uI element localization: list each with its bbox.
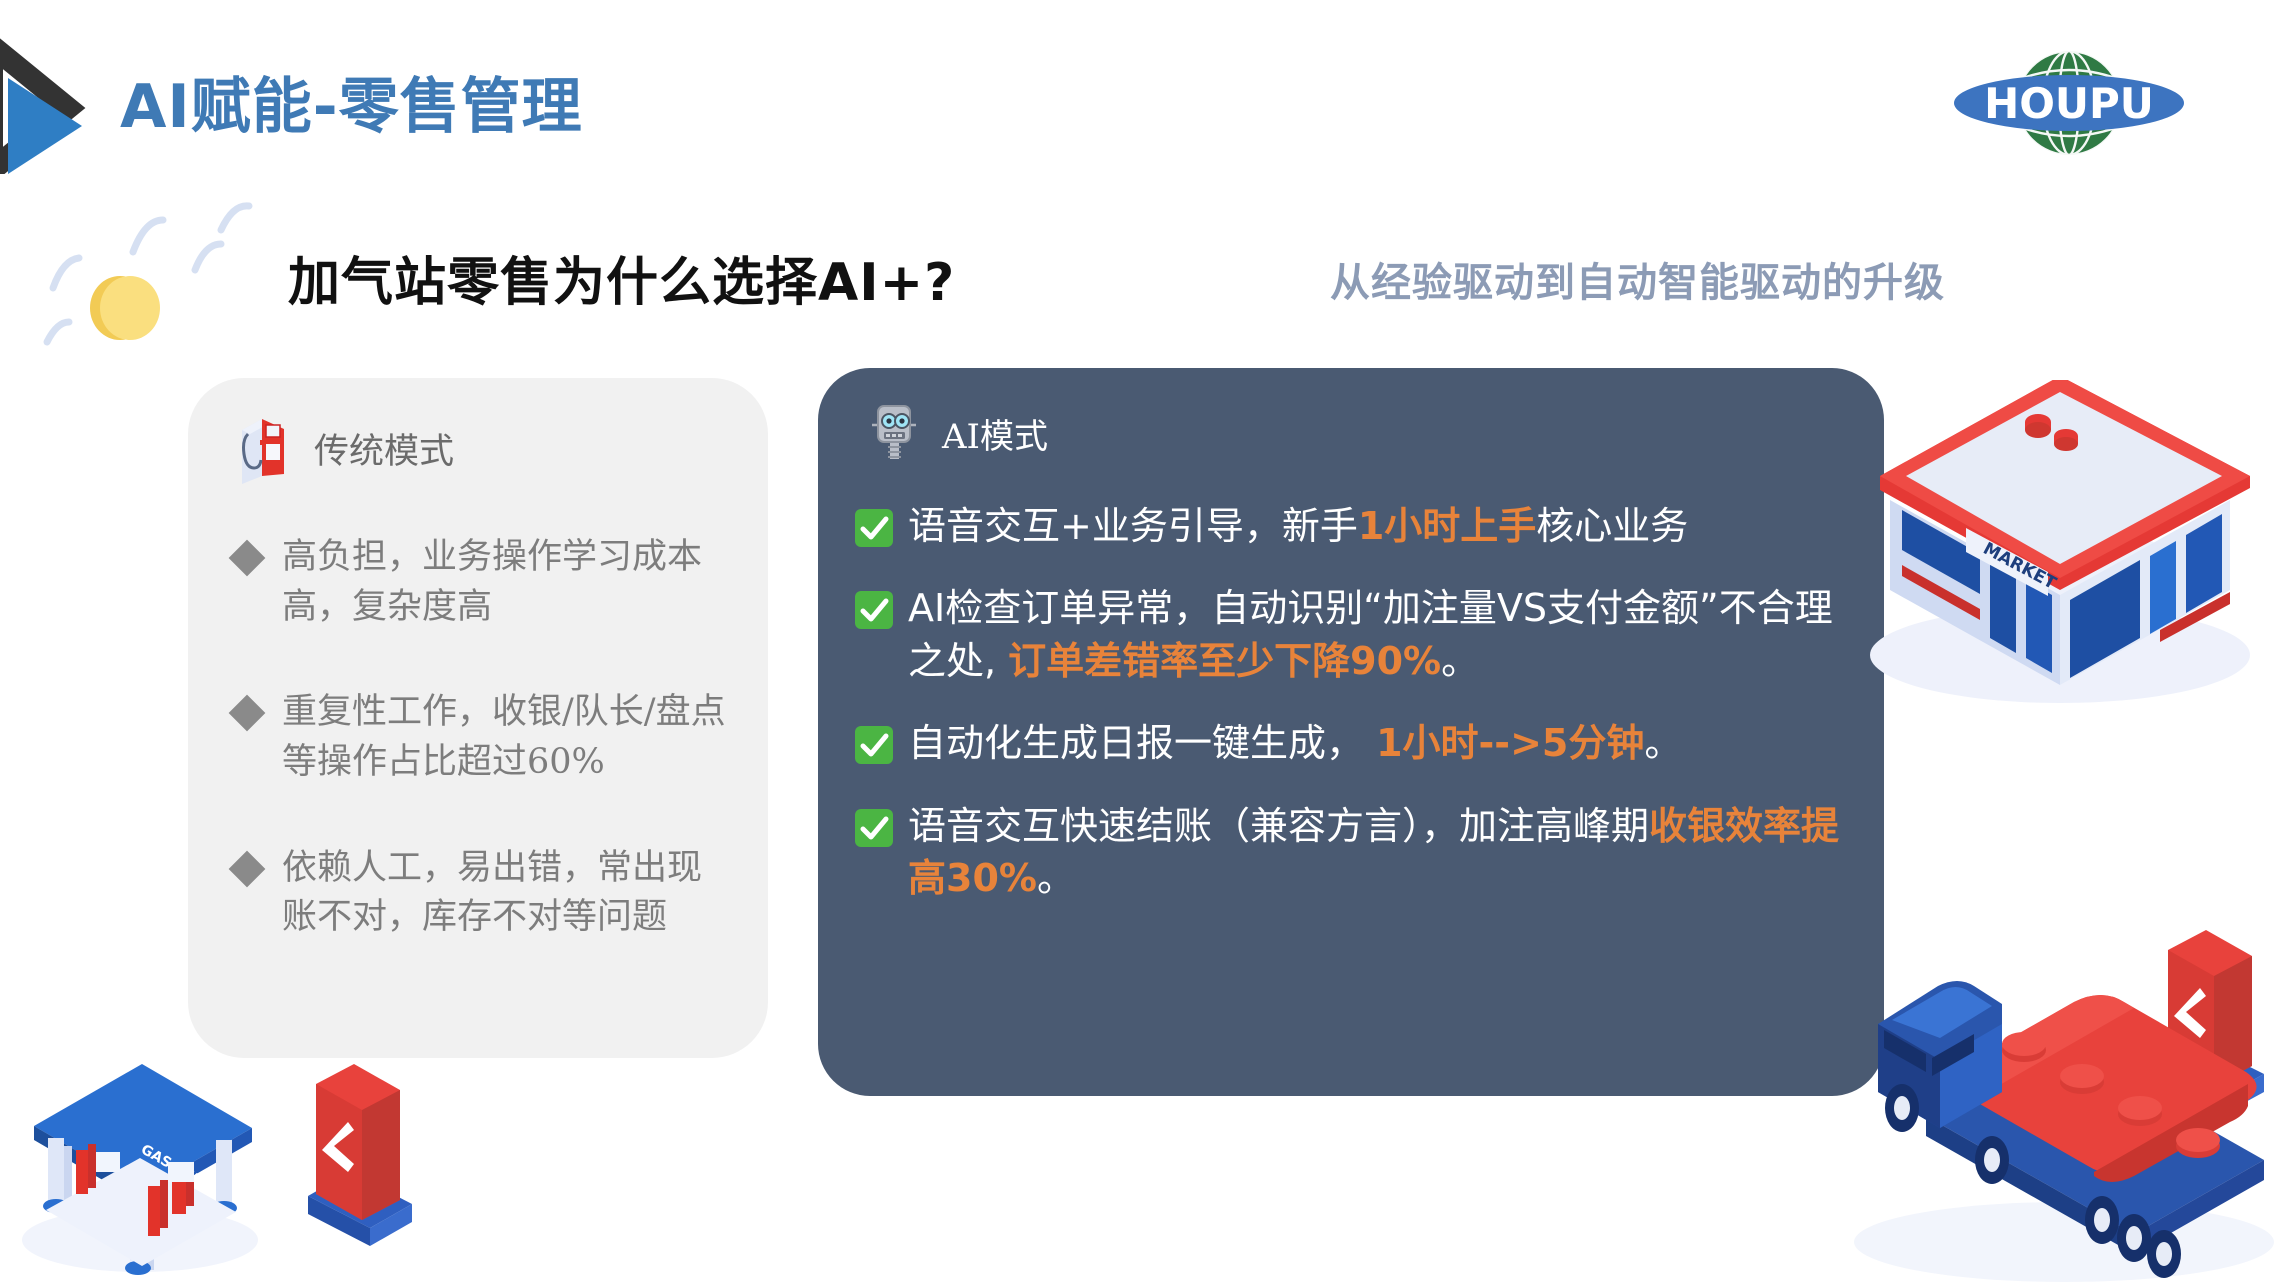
highlight-text: 1小时-->5分钟 — [1376, 721, 1644, 765]
list-item: 语音交互+业务引导，新手1小时上手核心业务 — [854, 500, 1854, 552]
green-check-icon — [854, 508, 894, 548]
list-item: AI检查订单异常，自动识别“加注量VS支付金额”不合理之处, 订单差错率至少下降… — [854, 582, 1854, 687]
gas-station-illustration: GAS STATION — [20, 1040, 470, 1288]
double-triangle-play-icon — [0, 34, 120, 174]
green-check-icon — [854, 808, 894, 848]
list-item-label: 语音交互快速结账（兼容方言），加注高峰期收银效率提高30%。 — [908, 800, 1854, 905]
list-item-label: 依赖人工，易出错，常出现账不对，库存不对等问题 — [282, 844, 734, 943]
highlight-text: 订单差错率至少下降90% — [1008, 639, 1441, 683]
highlight-text: 1小时上手 — [1358, 504, 1536, 548]
sub-heading: 从经验驱动到自动智能驱动的升级 — [1330, 250, 1945, 308]
traditional-mode-card: 传统模式 高负担，业务操作学习成本高，复杂度高 重复性工作，收银/队长/盘点等操… — [188, 378, 768, 1058]
list-item-label: AI检查订单异常，自动识别“加注量VS支付金额”不合理之处, 订单差错率至少下降… — [908, 582, 1854, 687]
traditional-bullet-list: 高负担，业务操作学习成本高，复杂度高 重复性工作，收银/队长/盘点等操作占比超过… — [234, 533, 734, 999]
chevron-sign-icon — [308, 1064, 412, 1246]
list-item: 依赖人工，易出错，常出现账不对，库存不对等问题 — [234, 844, 734, 943]
ai-card-title: AI模式 — [942, 409, 1048, 458]
list-item-label: 高负担，业务操作学习成本高，复杂度高 — [282, 533, 734, 632]
slide-header: AI赋能-零售管理 HOUPU — [0, 0, 2294, 200]
market-store-illustration: MARKET — [1830, 380, 2274, 710]
coin-icon — [90, 276, 160, 340]
houpu-logo: HOUPU — [1944, 48, 2194, 158]
traditional-card-header: 传统模式 — [236, 410, 454, 486]
list-item: 自动化生成日报一键生成， 1小时-->5分钟。 — [854, 717, 1854, 769]
robot-icon — [868, 400, 920, 466]
list-item: 语音交互快速结账（兼容方言），加注高峰期收银效率提高30%。 — [854, 800, 1854, 905]
ai-mode-card: AI模式 语音交互+业务引导，新手1小时上手核心业务 AI检查订单异常，自动识别… — [818, 368, 1884, 1096]
tanker-truck-illustration — [1834, 920, 2294, 1288]
green-check-icon — [854, 725, 894, 765]
page-title: AI赋能-零售管理 — [120, 58, 583, 145]
ai-card-header: AI模式 — [868, 400, 1048, 466]
diamond-bullet-icon — [229, 850, 266, 887]
houpu-logo-text: HOUPU — [1984, 79, 2154, 128]
diamond-bullet-icon — [229, 695, 266, 732]
green-check-icon — [854, 590, 894, 630]
fuel-pump-icon — [236, 410, 294, 486]
traditional-card-title: 传统模式 — [314, 423, 454, 474]
list-item-label: 重复性工作，收银/队长/盘点等操作占比超过60% — [282, 688, 734, 787]
list-item: 重复性工作，收银/队长/盘点等操作占比超过60% — [234, 688, 734, 787]
list-item: 高负担，业务操作学习成本高，复杂度高 — [234, 533, 734, 632]
list-item-label: 语音交互+业务引导，新手1小时上手核心业务 — [908, 500, 1688, 552]
main-heading: 加气站零售为什么选择AI+? — [288, 240, 955, 315]
coin-doodle-illustration — [35, 190, 285, 360]
list-item-label: 自动化生成日报一键生成， 1小时-->5分钟。 — [908, 717, 1682, 769]
slide-root: AI赋能-零售管理 HOUPU 加气站零售为什么选择AI+? 从经验驱动到自动智… — [0, 0, 2294, 1288]
ai-bullet-list: 语音交互+业务引导，新手1小时上手核心业务 AI检查订单异常，自动识别“加注量V… — [854, 500, 1854, 935]
diamond-bullet-icon — [229, 540, 266, 577]
